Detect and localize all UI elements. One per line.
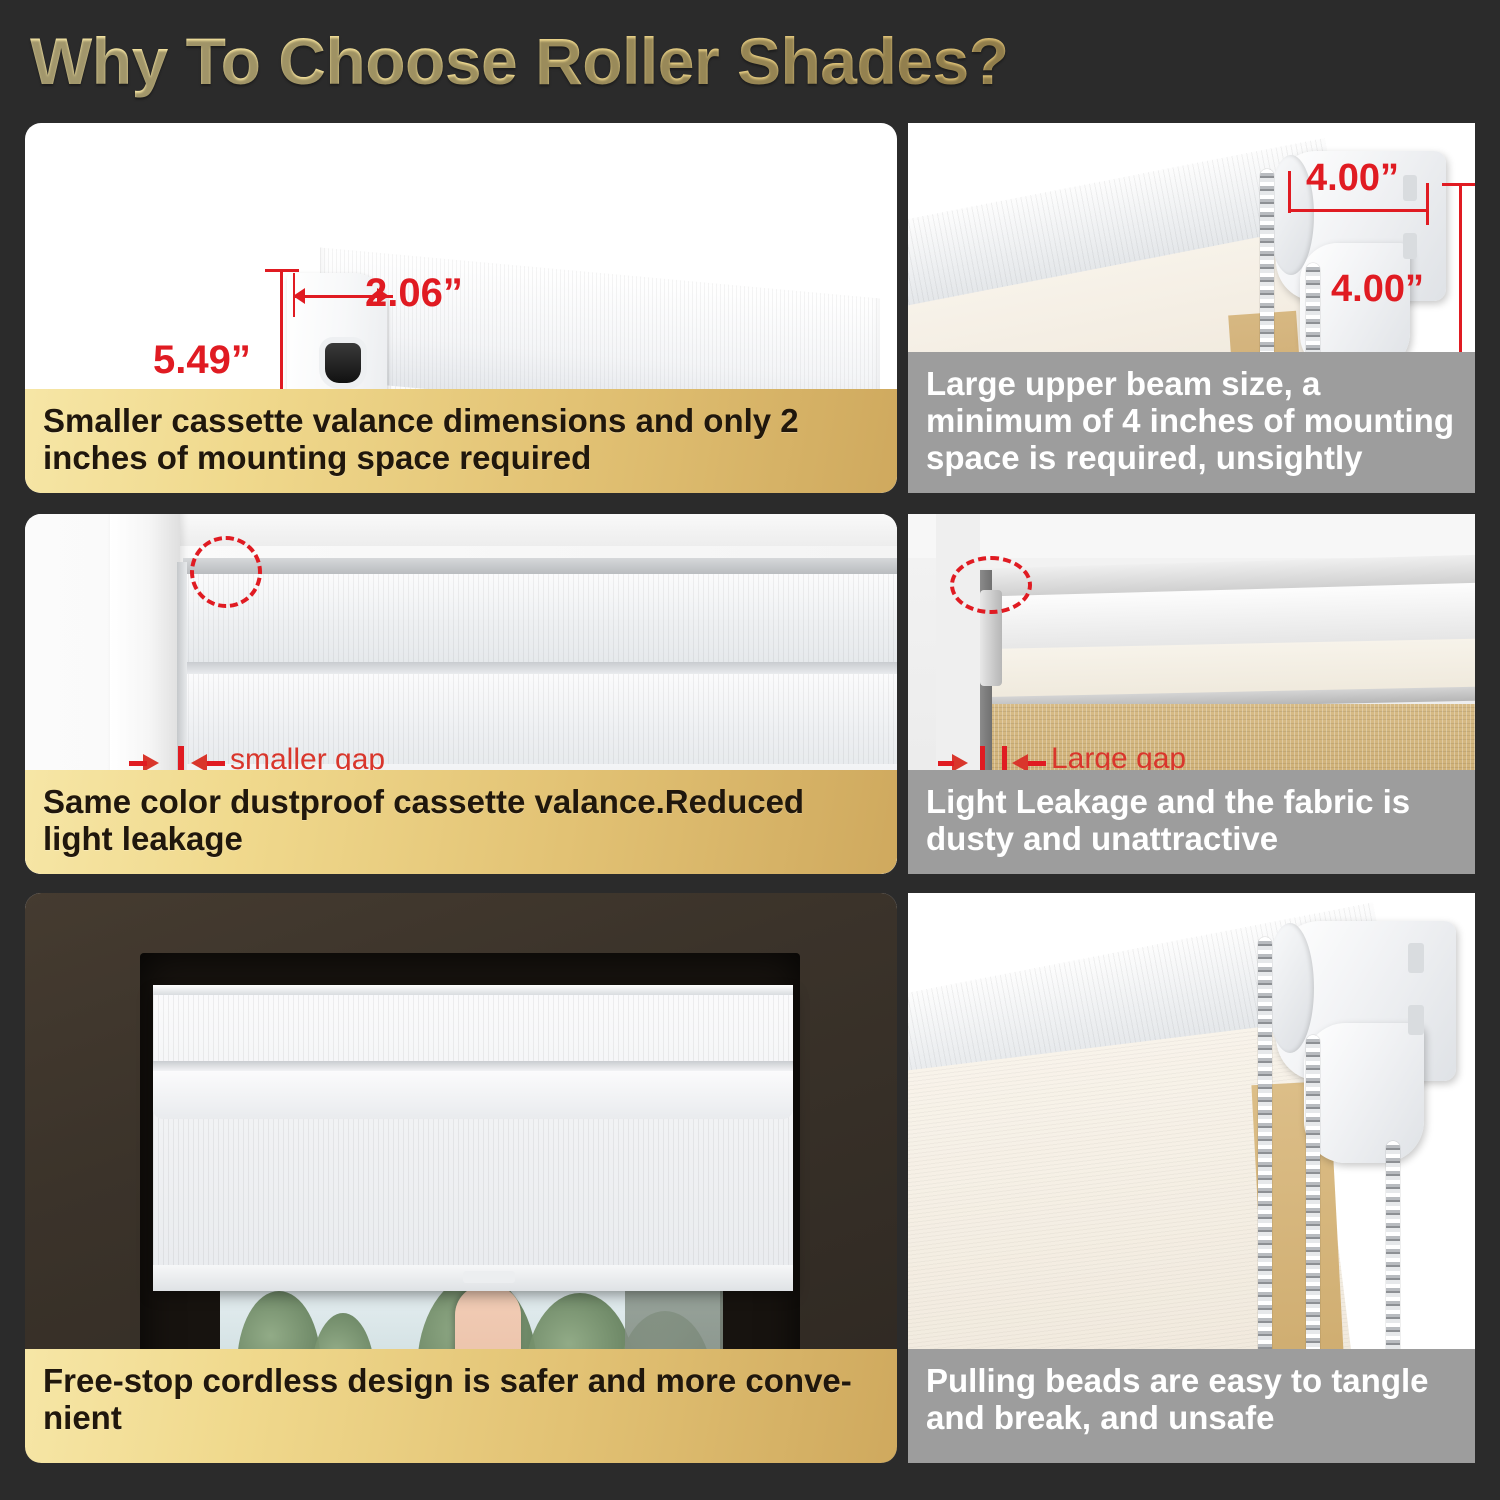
panel-free-stop-cordless: Free-stop cordless design is safer and m…: [25, 893, 897, 1463]
highlight-circle-icon: [950, 556, 1032, 614]
panel-large-upper-beam: 4.00” 4.00” Large upper beam size, a min…: [908, 123, 1475, 493]
panel-smaller-cassette: 2.06” 5.49” Smaller cassette valance dim…: [25, 123, 897, 493]
caption-dustproof-valance: Same color dustproof cassette valance.Re…: [25, 770, 897, 874]
caption-large-upper-beam: Large upper beam size, a minimum of 4 in…: [908, 352, 1475, 493]
caption-pulling-beads: Pulling beads are easy to tangle and bre…: [908, 1349, 1475, 1463]
caption-light-leakage: Light Leakage and the fabric is dusty an…: [908, 770, 1475, 874]
panel-light-leakage: Large gap Light Leakage and the fabric i…: [908, 514, 1475, 874]
page-title: Why To Choose Roller Shades?: [30, 16, 1470, 106]
page-header: Why To Choose Roller Shades?: [30, 16, 1470, 106]
dimension-label-height: 5.49”: [153, 338, 251, 383]
dimension-label-beam-height: 4.00”: [1331, 268, 1424, 311]
panel-pulling-beads: Pulling beads are easy to tangle and bre…: [908, 893, 1475, 1463]
panel-dustproof-valance: smaller gap Same color dustproof cassett…: [25, 514, 897, 874]
highlight-circle-icon: [190, 536, 262, 608]
caption-smaller-cassette: Smaller cassette valance dimensions and …: [25, 389, 897, 493]
dimension-label-width: 2.06”: [365, 271, 463, 316]
caption-free-stop-cordless: Free-stop cordless design is safer and m…: [25, 1349, 897, 1463]
dimension-label-beam-width: 4.00”: [1306, 157, 1399, 200]
